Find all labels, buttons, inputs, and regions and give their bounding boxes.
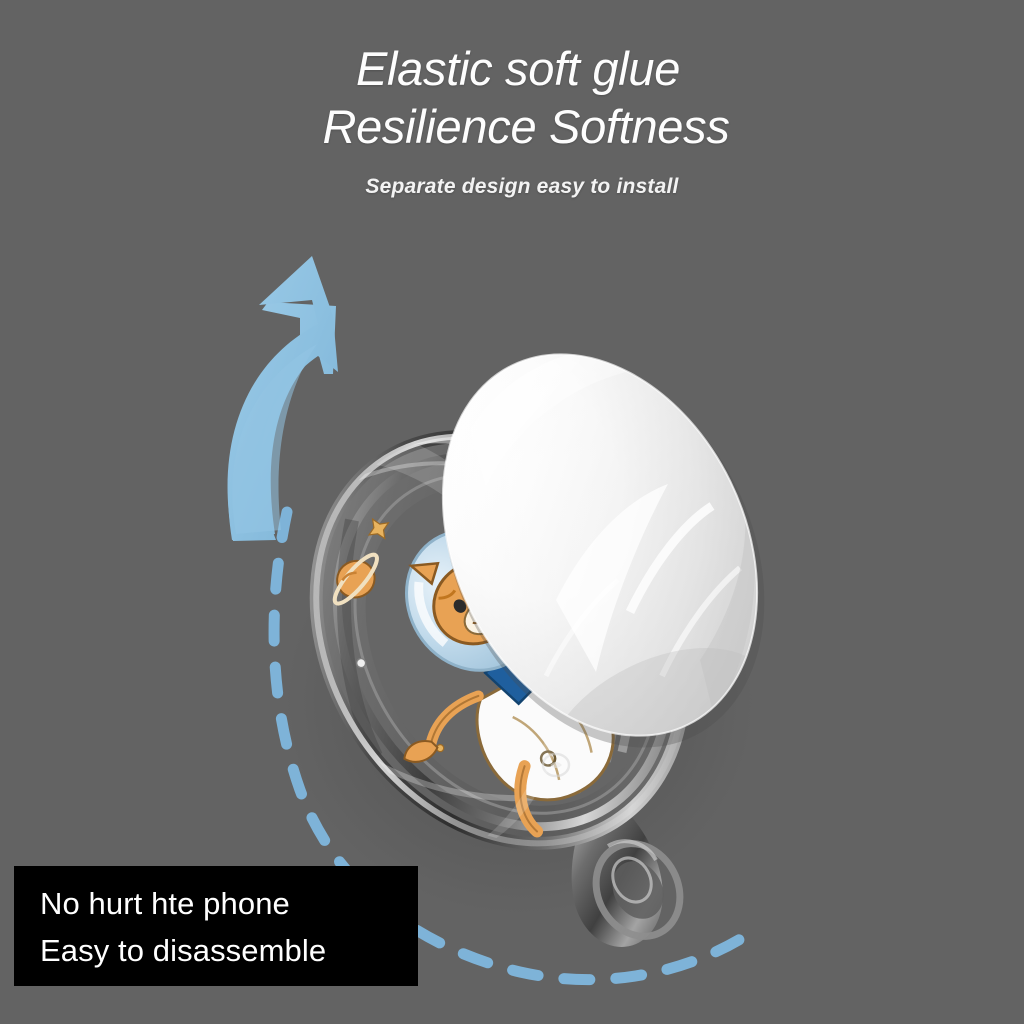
- product-marketing-image: Elastic soft glue Resilience Softness Se…: [0, 0, 1024, 1024]
- feature-caption-box: No hurt hte phone Easy to disassemble: [14, 866, 418, 986]
- caption-line-1: No hurt hte phone: [40, 880, 418, 927]
- curved-up-arrow: [228, 256, 338, 541]
- caption-line-2: Easy to disassemble: [40, 927, 418, 974]
